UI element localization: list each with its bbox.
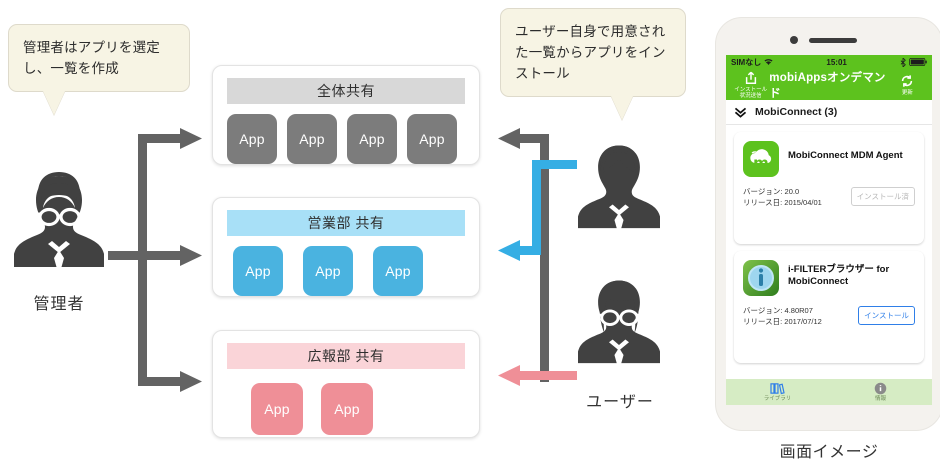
install-status-label-2: 状況送信: [732, 93, 769, 99]
app-release-label: リリース日: 2017/07/12: [743, 316, 822, 327]
group-name-label: MobiConnect (3): [755, 106, 837, 118]
group-card-sales: 営業部 共有 App App App: [212, 197, 480, 297]
callout-admin-text: 管理者はアプリを選定し、一覧を作成: [23, 40, 160, 76]
callout-admin-tail: [43, 91, 65, 115]
info-circle-icon: [874, 382, 887, 395]
install-status-label-1: インストール: [732, 87, 769, 93]
callout-admin: 管理者はアプリを選定し、一覧を作成: [8, 24, 190, 92]
wifi-icon: [764, 58, 773, 66]
group-card-pr: 広報部 共有 App App: [212, 330, 480, 438]
app-list-item[interactable]: i-FILTERブラウザー for MobiConnect バージョン: 4.8…: [734, 251, 924, 363]
app-tile[interactable]: App: [251, 383, 303, 435]
app-version-label: バージョン: 4.80R07: [743, 305, 822, 316]
tab-library[interactable]: ライブラリ: [726, 382, 829, 403]
app-meta: バージョン: 4.80R07 リリース日: 2017/07/12: [743, 305, 822, 327]
ifilter-globe-icon: [743, 260, 779, 296]
svg-text:m: m: [753, 154, 769, 172]
group-all-tiles: App App App App: [213, 104, 479, 178]
group-pr-tiles: App App: [213, 369, 479, 449]
app-release-label: リリース日: 2015/04/01: [743, 197, 822, 208]
app-tile[interactable]: App: [347, 114, 397, 164]
app-tile[interactable]: App: [373, 246, 423, 296]
tab-info-label: 情報: [875, 396, 886, 402]
phone-speaker-icon: [809, 38, 857, 43]
app-tile[interactable]: App: [303, 246, 353, 296]
app-tile[interactable]: App: [407, 114, 457, 164]
app-meta: バージョン: 20.0 リリース日: 2015/04/01: [743, 186, 822, 208]
phone-screen: SIMなし 15:01: [726, 55, 932, 405]
group-all-title: 全体共有: [227, 78, 465, 104]
phone-caption: 画面イメージ: [716, 438, 940, 462]
share-upload-icon: [744, 71, 758, 85]
callout-user: ユーザー自身で用意された一覧からアプリをインストール: [500, 8, 686, 97]
status-bar: SIMなし 15:01: [726, 55, 932, 69]
arrow-from-sales-share: [498, 160, 577, 261]
tab-info[interactable]: 情報: [829, 382, 932, 403]
app-tile[interactable]: App: [227, 114, 277, 164]
bluetooth-icon: [900, 58, 906, 67]
phone-mockup: SIMなし 15:01: [716, 18, 940, 430]
admin-branch-arrows: [108, 120, 216, 400]
group-sales-title: 営業部 共有: [227, 210, 465, 236]
app-tile[interactable]: App: [287, 114, 337, 164]
admin-avatar-icon: [14, 170, 104, 280]
phone-camera-icon: [790, 36, 798, 44]
mobiconnect-cloud-icon: m: [743, 141, 779, 177]
refresh-label: 更新: [889, 90, 926, 96]
app-version-label: バージョン: 20.0: [743, 186, 822, 197]
chevron-double-down-icon: [734, 107, 747, 118]
library-books-icon: [770, 382, 785, 395]
app-name-label: MobiConnect MDM Agent: [788, 141, 903, 162]
install-status-send-button[interactable]: インストール 状況送信: [732, 71, 769, 99]
user-avatar-icon-1: [578, 140, 660, 240]
app-list-item[interactable]: m MobiConnect MDM Agent バージョン: 20.0 リリース…: [734, 132, 924, 244]
refresh-icon: [900, 74, 914, 88]
carrier-label: SIMなし: [731, 57, 761, 68]
tab-library-label: ライブラリ: [764, 396, 792, 402]
bottom-tab-bar: ライブラリ 情報: [726, 379, 932, 405]
app-nav-bar: インストール 状況送信 mobiAppsオンデマンド 更新: [726, 69, 932, 100]
app-title: mobiAppsオンデマンド: [769, 69, 888, 101]
arrow-from-pr-share: [498, 365, 577, 386]
group-section-header[interactable]: MobiConnect (3): [726, 100, 932, 125]
user-avatar-icon-2: [578, 275, 660, 375]
battery-icon: [909, 58, 927, 66]
user-label: ユーザー: [560, 388, 680, 412]
app-name-label: i-FILTERブラウザー for MobiConnect: [788, 260, 915, 288]
group-card-all: 全体共有 App App App App: [212, 65, 480, 165]
clock-label: 15:01: [773, 58, 900, 67]
installed-button: インストール済: [851, 187, 915, 206]
app-tile[interactable]: App: [321, 383, 373, 435]
callout-user-tail: [611, 96, 633, 120]
admin-label: 管理者: [4, 290, 114, 314]
refresh-button[interactable]: 更新: [889, 74, 926, 96]
group-sales-tiles: App App App: [213, 236, 479, 310]
callout-user-text: ユーザー自身で用意された一覧からアプリをインストール: [515, 24, 666, 81]
install-button[interactable]: インストール: [858, 306, 915, 325]
app-tile[interactable]: App: [233, 246, 283, 296]
group-pr-title: 広報部 共有: [227, 343, 465, 369]
